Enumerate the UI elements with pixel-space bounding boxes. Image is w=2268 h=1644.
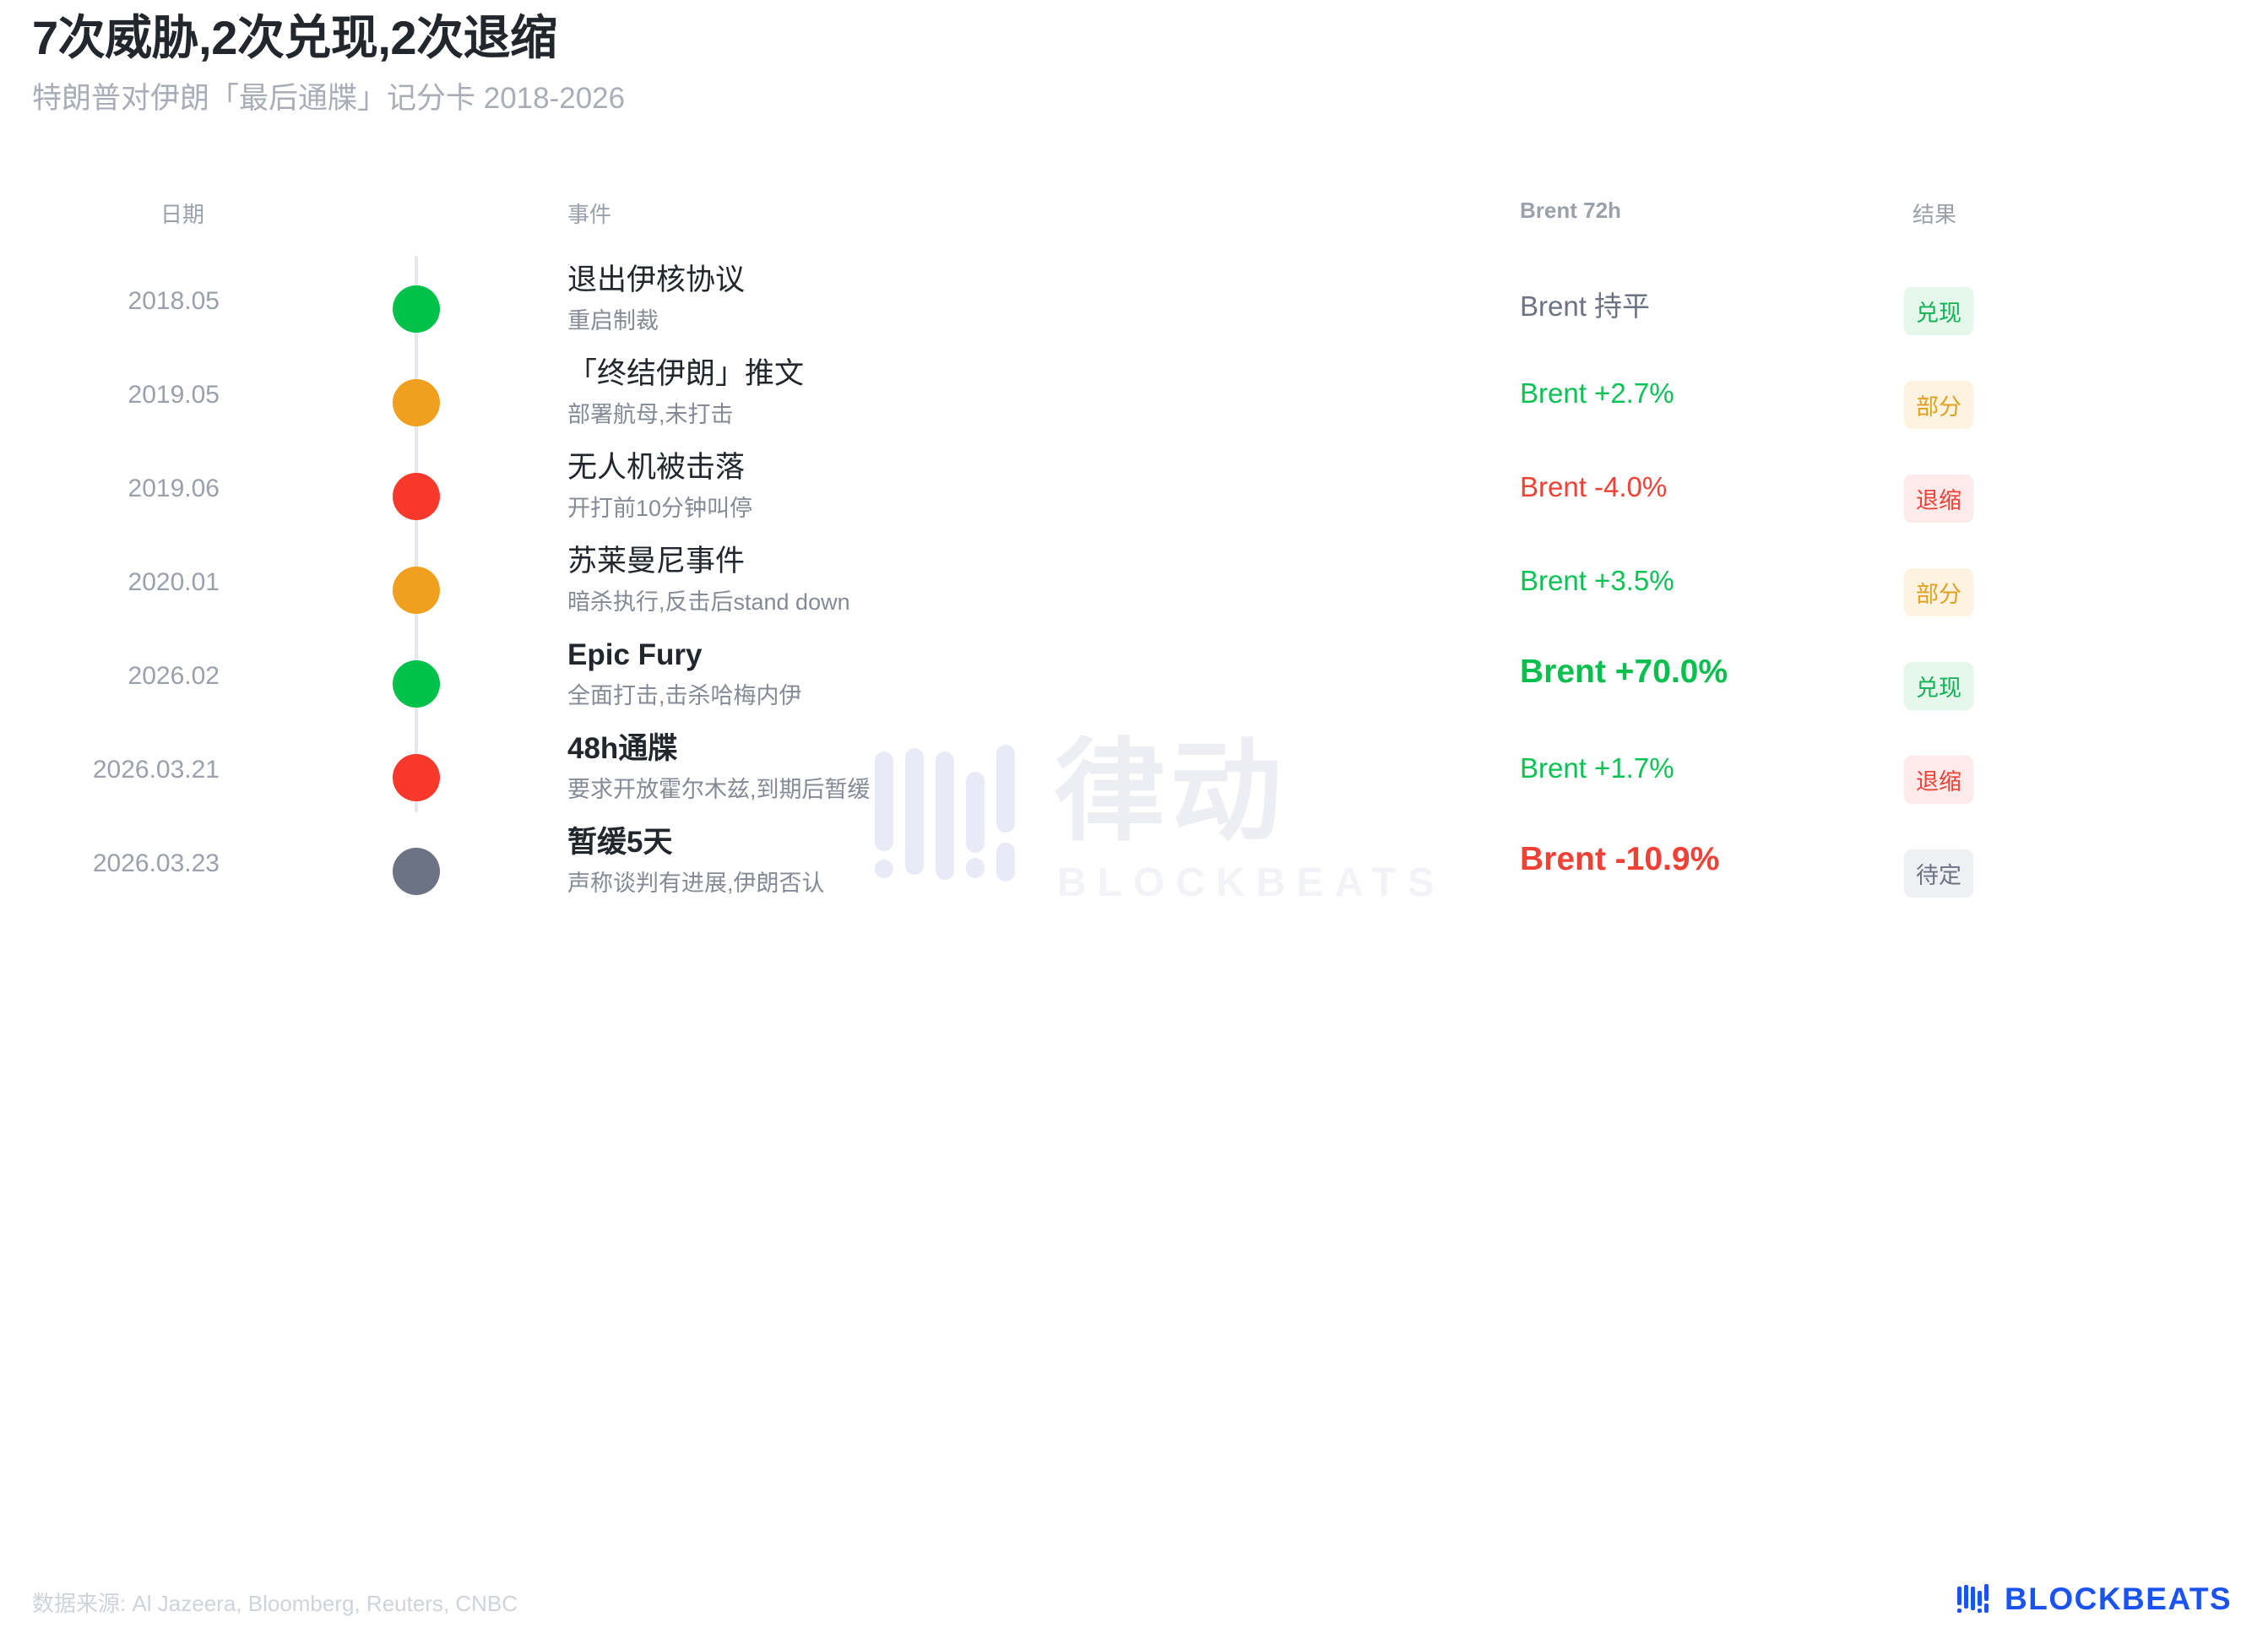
row-date: 2026.03.23 <box>0 849 220 878</box>
column-header-event: 事件 <box>567 198 611 229</box>
row-brent-value: Brent +2.7% <box>1520 377 1674 410</box>
status-badge: 部分 <box>1904 381 1973 429</box>
timeline-dot-orange <box>393 567 440 614</box>
blockbeats-logo: BLOCKBEATS <box>1957 1581 2232 1616</box>
event-title: 48h通牒 <box>567 732 1454 766</box>
event-title: 暂缓5天 <box>567 826 1454 860</box>
blockbeats-bars-icon <box>1957 1584 1996 1613</box>
row-event-cell: 「终结伊朗」推文部署航母,未打击 <box>567 357 1454 428</box>
timeline-row: 2020.01苏莱曼尼事件暗杀执行,反击后stand downBrent +3.… <box>0 545 2268 638</box>
row-event-cell: 暂缓5天声称谈判有进展,伊朗否认 <box>567 826 1454 897</box>
row-date: 2019.06 <box>0 475 220 503</box>
event-subtitle: 开打前10分钟叫停 <box>567 496 1454 522</box>
timeline-row: 2018.05退出伊核协议重启制裁Brent 持平兑现 <box>0 263 2268 356</box>
timeline-dot-red <box>393 473 440 520</box>
row-date: 2020.01 <box>0 568 220 597</box>
column-header-result: 结果 <box>1913 198 1956 229</box>
timeline-dot-orange <box>393 379 440 426</box>
row-event-cell: 退出伊核协议重启制裁 <box>567 263 1454 334</box>
row-event-cell: 48h通牒要求开放霍尔木兹,到期后暂缓 <box>567 732 1454 803</box>
row-event-cell: Epic Fury全面打击,击杀哈梅内伊 <box>567 638 1454 709</box>
row-event-cell: 苏莱曼尼事件暗杀执行,反击后stand down <box>567 545 1454 616</box>
page-title: 7次威胁,2次兑现,2次退缩 <box>32 12 625 64</box>
event-subtitle: 部署航母,未打击 <box>567 402 1454 428</box>
event-subtitle: 要求开放霍尔木兹,到期后暂缓 <box>567 777 1454 803</box>
event-subtitle: 重启制裁 <box>567 308 1454 334</box>
timeline-dot-red <box>393 754 440 801</box>
row-event-cell: 无人机被击落开打前10分钟叫停 <box>567 451 1454 522</box>
status-badge: 部分 <box>1904 568 1973 616</box>
event-title: 「终结伊朗」推文 <box>567 357 1454 391</box>
footer-data-source: 数据来源: Al Jazeera, Bloomberg, Reuters, CN… <box>32 1587 518 1618</box>
timeline-row: 2019.05「终结伊朗」推文部署航母,未打击Brent +2.7%部分 <box>0 357 2268 450</box>
timeline-dot-slate <box>393 848 440 895</box>
row-brent-value: Brent +70.0% <box>1520 654 1728 691</box>
event-title: 苏莱曼尼事件 <box>567 545 1454 578</box>
row-brent-value: Brent 持平 <box>1520 284 1650 324</box>
status-badge: 兑现 <box>1904 287 1973 335</box>
status-badge: 兑现 <box>1904 662 1973 710</box>
column-header-date: 日期 <box>160 198 204 229</box>
event-subtitle: 全面打击,击杀哈梅内伊 <box>567 683 1454 709</box>
event-title: 无人机被击落 <box>567 451 1454 485</box>
timeline-dot-green <box>393 660 440 708</box>
blockbeats-logo-text: BLOCKBEATS <box>2005 1583 2232 1614</box>
page-header: 7次威胁,2次兑现,2次退缩 特朗普对伊朗「最后通牒」记分卡 2018-2026 <box>32 12 625 117</box>
status-badge: 退缩 <box>1904 475 1973 523</box>
timeline-row: 2026.02Epic Fury全面打击,击杀哈梅内伊Brent +70.0%兑… <box>0 638 2268 731</box>
row-date: 2026.02 <box>0 662 220 691</box>
row-brent-value: Brent +3.5% <box>1520 565 1674 597</box>
event-title: 退出伊核协议 <box>567 263 1454 297</box>
timeline-row: 2026.03.23暂缓5天声称谈判有进展,伊朗否认Brent -10.9%待定 <box>0 826 2268 919</box>
row-date: 2026.03.21 <box>0 756 220 784</box>
row-brent-value: Brent +1.7% <box>1520 752 1674 784</box>
column-header-brent: Brent 72h <box>1520 198 1621 224</box>
status-badge: 待定 <box>1904 849 1973 898</box>
row-date: 2018.05 <box>0 287 220 316</box>
column-header-row: 日期 事件 Brent 72h 结果 <box>0 198 2268 231</box>
event-title: Epic Fury <box>567 638 1454 672</box>
timeline-row: 2026.03.2148h通牒要求开放霍尔木兹,到期后暂缓Brent +1.7%… <box>0 732 2268 825</box>
status-badge: 退缩 <box>1904 756 1973 804</box>
page-subtitle: 特朗普对伊朗「最后通牒」记分卡 2018-2026 <box>32 81 625 117</box>
row-brent-value: Brent -4.0% <box>1520 471 1667 503</box>
row-brent-value: Brent -10.9% <box>1520 841 1719 878</box>
timeline-row: 2019.06无人机被击落开打前10分钟叫停Brent -4.0%退缩 <box>0 451 2268 544</box>
event-subtitle: 声称谈判有进展,伊朗否认 <box>567 871 1454 897</box>
row-date: 2019.05 <box>0 381 220 410</box>
event-subtitle: 暗杀执行,反击后stand down <box>567 589 1454 616</box>
timeline-dot-green <box>393 285 440 333</box>
